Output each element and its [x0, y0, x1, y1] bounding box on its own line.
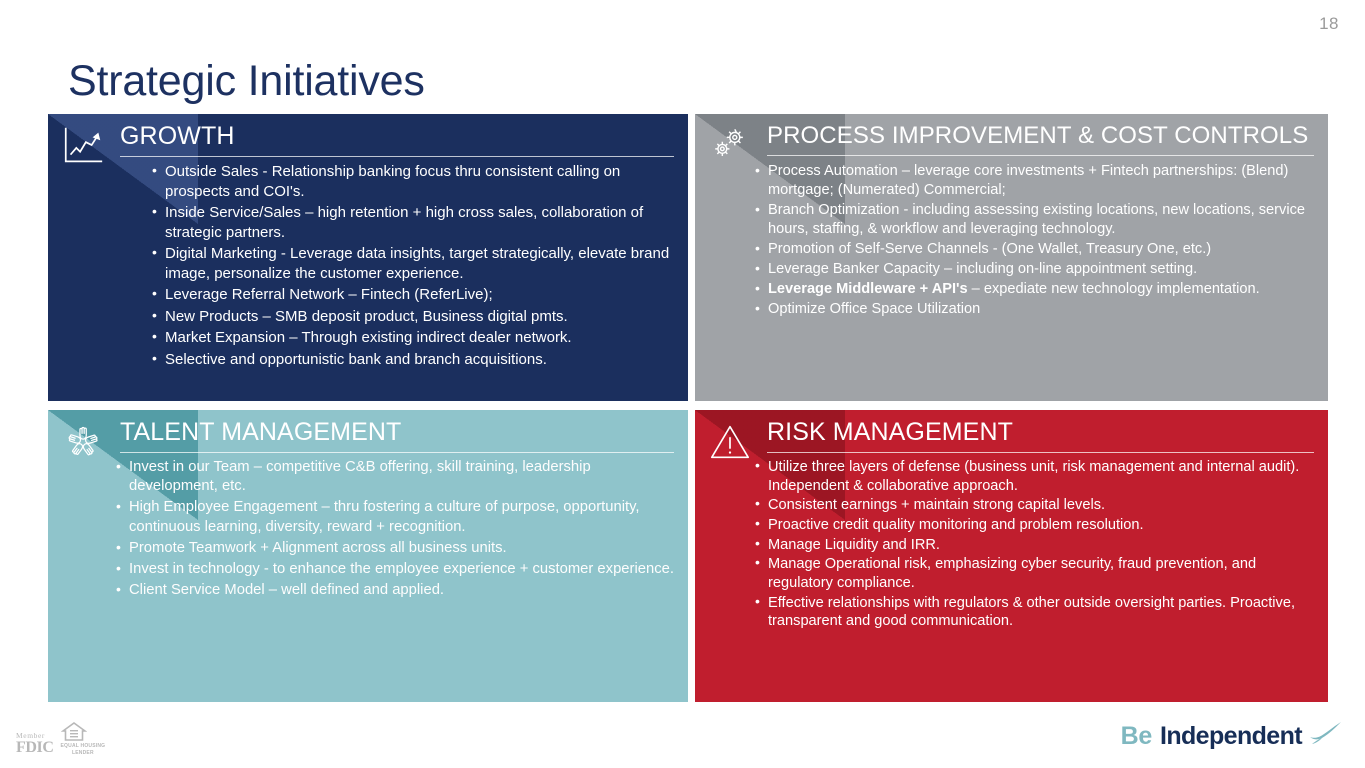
list-item: Digital Marketing - Leverage data insigh… [152, 244, 676, 283]
list-item: Invest in technology - to enhance the em… [116, 560, 676, 579]
list-item: Selective and opportunistic bank and bra… [152, 350, 676, 370]
list-item: Promotion of Self-Serve Channels - (One … [755, 240, 1318, 259]
list-item: Manage Operational risk, emphasizing cyb… [755, 555, 1318, 592]
be-independent-logo: Be Independent [1121, 720, 1343, 752]
title-divider [120, 156, 674, 157]
gears-icon [707, 123, 753, 169]
list-item: Proactive credit quality monitoring and … [755, 516, 1318, 535]
panel-title: TALENT MANAGEMENT [120, 418, 674, 447]
brand-word-be: Be [1121, 722, 1152, 751]
panel-risk-management: RISK MANAGEMENT Utilize three layers of … [695, 410, 1328, 702]
page-number: 18 [1319, 14, 1339, 34]
fdic-equal-housing-lender-mark: Member FDIC EQUAL HOUSING LENDER [16, 721, 105, 757]
title-divider [767, 155, 1314, 156]
fdic-label: FDIC [16, 740, 54, 756]
panel-process-improvement: PROCESS IMPROVEMENT & COST CONTROLS Proc… [695, 114, 1328, 401]
bird-swoosh-icon [1307, 720, 1343, 746]
list-item: Invest in our Team – competitive C&B off… [116, 458, 676, 496]
list-item: Effective relationships with regulators … [755, 594, 1318, 631]
strategic-initiatives-grid: GROWTH Outside Sales - Relationship bank… [48, 114, 1328, 702]
title-divider [120, 452, 674, 453]
equal-housing-line1: EQUAL HOUSING [61, 743, 106, 749]
bullet-list-process-improvement: Process Automation – leverage core inves… [755, 162, 1318, 320]
panel-header-talent-management: TALENT MANAGEMENT [120, 418, 674, 453]
list-item: Process Automation – leverage core inves… [755, 162, 1318, 200]
list-item: Manage Liquidity and IRR. [755, 536, 1318, 555]
list-item: Client Service Model – well defined and … [116, 581, 676, 600]
line-chart-growth-icon [60, 123, 106, 169]
bullet-list-risk-management: Utilize three layers of defense (busines… [755, 458, 1318, 632]
list-item: Optimize Office Space Utilization [755, 300, 1318, 319]
page-title: Strategic Initiatives [68, 58, 425, 105]
title-divider [767, 452, 1314, 453]
panel-title: PROCESS IMPROVEMENT & COST CONTROLS [767, 122, 1314, 150]
equal-housing-lender-icon: EQUAL HOUSING LENDER [61, 721, 106, 757]
equal-housing-line2: LENDER [61, 750, 106, 756]
list-item: New Products – SMB deposit product, Busi… [152, 307, 676, 327]
panel-growth: GROWTH Outside Sales - Relationship bank… [48, 114, 688, 401]
panel-header-risk-management: RISK MANAGEMENT [767, 418, 1314, 453]
warning-triangle-icon [707, 419, 753, 465]
panel-title: RISK MANAGEMENT [767, 418, 1314, 447]
panel-title: GROWTH [120, 122, 674, 151]
list-item: Leverage Middleware + API's – expediate … [755, 280, 1318, 299]
list-item: Leverage Banker Capacity – including on-… [755, 260, 1318, 279]
list-item: Outside Sales - Relationship banking foc… [152, 162, 676, 201]
panel-header-process-improvement: PROCESS IMPROVEMENT & COST CONTROLS [767, 122, 1314, 156]
list-item: Promote Teamwork + Alignment across all … [116, 539, 676, 558]
list-item: Consistent earnings + maintain strong ca… [755, 496, 1318, 515]
list-item: High Employee Engagement – thru fosterin… [116, 498, 676, 536]
fdic-member-label: Member [16, 732, 54, 740]
list-item: Inside Service/Sales – high retention + … [152, 203, 676, 242]
list-item: Market Expansion – Through existing indi… [152, 328, 676, 348]
fdic-text: Member FDIC [16, 732, 54, 757]
teamwork-hands-icon [60, 419, 106, 465]
panel-talent-management: TALENT MANAGEMENT Invest in our Team – c… [48, 410, 688, 702]
brand-word-independent: Independent [1160, 722, 1302, 751]
panel-header-growth: GROWTH [120, 122, 674, 157]
bullet-list-talent-management: Invest in our Team – competitive C&B off… [116, 458, 676, 603]
list-item: Utilize three layers of defense (busines… [755, 458, 1318, 495]
list-item: Branch Optimization - including assessin… [755, 201, 1318, 239]
bullet-list-growth: Outside Sales - Relationship banking foc… [152, 162, 676, 371]
list-item: Leverage Referral Network – Fintech (Ref… [152, 285, 676, 305]
